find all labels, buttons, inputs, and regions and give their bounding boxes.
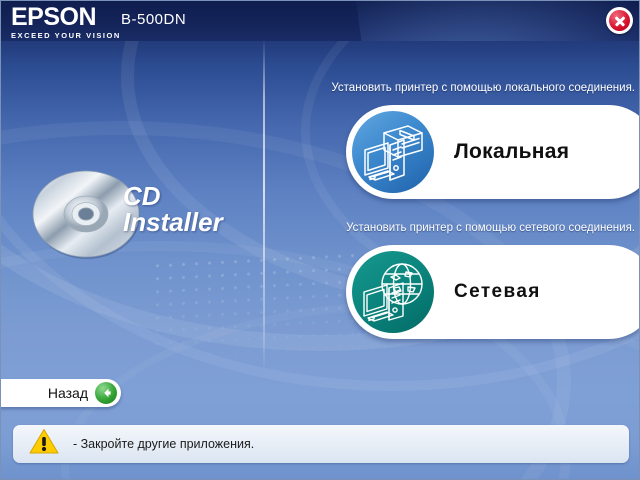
network-install-button[interactable]: Сетевая (346, 245, 640, 339)
header-sheen (351, 1, 640, 41)
warning-triangle-icon (29, 428, 59, 460)
title-bar: EPSON EXCEED YOUR VISION B-500DN (1, 1, 640, 41)
network-install-label: Сетевая (454, 281, 541, 303)
brand-name: EPSON (11, 5, 121, 30)
local-install-caption: Установить принтер с помощью локального … (331, 82, 635, 94)
arrow-left-icon (95, 382, 117, 404)
local-install-label: Локальная (454, 140, 569, 164)
printer-computer-icon (352, 111, 434, 193)
back-button[interactable]: Назад (0, 379, 121, 407)
printer-model-label: B-500DN (121, 11, 186, 28)
warning-bar: - Закройте другие приложения. (13, 425, 629, 463)
cd-title-line1: CD (123, 183, 223, 209)
network-globe-computer-icon (352, 251, 434, 333)
warning-message: - Закройте другие приложения. (73, 437, 254, 451)
network-install-caption: Установить принтер с помощью сетевого со… (346, 222, 635, 234)
close-icon (609, 10, 630, 31)
back-button-label: Назад (48, 385, 88, 401)
epson-logo: EPSON EXCEED YOUR VISION (11, 5, 121, 40)
cd-title-line2: Installer (123, 209, 223, 235)
brand-tagline: EXCEED YOUR VISION (11, 31, 121, 40)
cd-installer-title: CD Installer (123, 183, 223, 235)
installer-window: EPSON EXCEED YOUR VISION B-500DN (0, 0, 640, 480)
close-button[interactable] (606, 7, 633, 34)
local-install-button[interactable]: Локальная (346, 105, 640, 199)
